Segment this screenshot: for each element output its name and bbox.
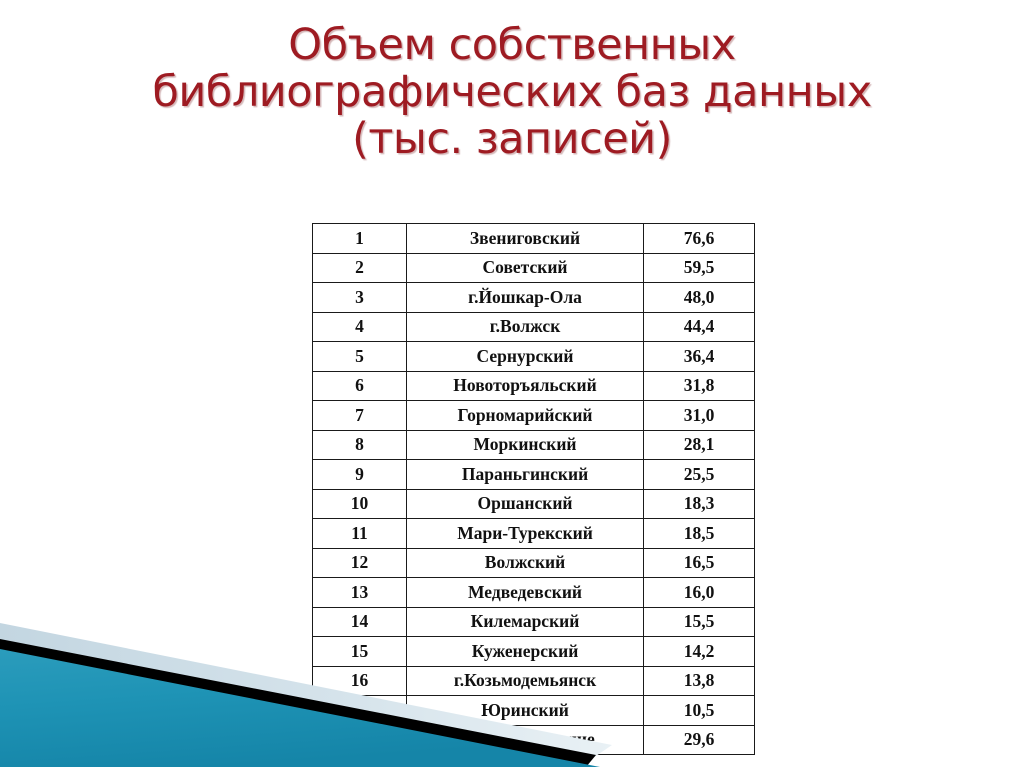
cell-value: 28,1: [644, 430, 755, 460]
cell-name: Куженерский: [407, 637, 644, 667]
cell-value: 18,5: [644, 519, 755, 549]
cell-name: Килемарский: [407, 607, 644, 637]
cell-value: 44,4: [644, 312, 755, 342]
table-row: 12Волжский16,5: [313, 548, 755, 578]
slide-canvas: Объем собственных библиографических баз …: [0, 0, 1024, 767]
cell-value: 36,4: [644, 342, 755, 372]
cell-index: 2: [313, 253, 407, 283]
cell-index: 3: [313, 283, 407, 313]
cell-value: 13,8: [644, 666, 755, 696]
cell-index: 14: [313, 607, 407, 637]
cell-index: 6: [313, 371, 407, 401]
cell-index: 9: [313, 460, 407, 490]
cell-value: 18,3: [644, 489, 755, 519]
data-table-container: 1Звениговский76,62Советский59,53г.Йошкар…: [312, 223, 727, 755]
cell-name: Звениговский: [407, 224, 644, 254]
cell-value: 59,5: [644, 253, 755, 283]
cell-index: 17: [313, 696, 407, 726]
cell-index: 8: [313, 430, 407, 460]
cell-value: 15,5: [644, 607, 755, 637]
cell-index: 11: [313, 519, 407, 549]
cell-value: 76,6: [644, 224, 755, 254]
table-body: 1Звениговский76,62Советский59,53г.Йошкар…: [313, 224, 755, 755]
cell-index: 7: [313, 401, 407, 431]
cell-value: 48,0: [644, 283, 755, 313]
cell-name: Горномарийский: [407, 401, 644, 431]
cell-name: Советский: [407, 253, 644, 283]
cell-index: [313, 725, 407, 755]
cell-name: Новоторъяльский: [407, 371, 644, 401]
table-row: 8Моркинский28,1: [313, 430, 755, 460]
cell-name: Сернурский: [407, 342, 644, 372]
table-row: 9Параньгинский25,5: [313, 460, 755, 490]
table-row: 6Новоторъяльский31,8: [313, 371, 755, 401]
table-row: 10Оршанский18,3: [313, 489, 755, 519]
cell-name: г.Йошкар-Ола: [407, 283, 644, 313]
cell-name: Среднее значение: [407, 725, 644, 755]
table-row: 17Юринский10,5: [313, 696, 755, 726]
cell-value: 14,2: [644, 637, 755, 667]
cell-value: 16,5: [644, 548, 755, 578]
cell-index: 4: [313, 312, 407, 342]
table-row: 5Сернурский36,4: [313, 342, 755, 372]
cell-name: г.Козьмодемьянск: [407, 666, 644, 696]
cell-value: 31,0: [644, 401, 755, 431]
cell-name: Моркинский: [407, 430, 644, 460]
cell-value: 29,6: [644, 725, 755, 755]
cell-index: 16: [313, 666, 407, 696]
cell-value: 16,0: [644, 578, 755, 608]
table-summary-row: Среднее значение29,6: [313, 725, 755, 755]
cell-index: 5: [313, 342, 407, 372]
cell-value: 25,5: [644, 460, 755, 490]
table-row: 7Горномарийский31,0: [313, 401, 755, 431]
cell-name: Мари-Турекский: [407, 519, 644, 549]
table-row: 16г.Козьмодемьянск13,8: [313, 666, 755, 696]
table-row: 15Куженерский14,2: [313, 637, 755, 667]
cell-index: 12: [313, 548, 407, 578]
cell-name: Юринский: [407, 696, 644, 726]
cell-index: 1: [313, 224, 407, 254]
cell-name: Волжский: [407, 548, 644, 578]
bibliographic-database-table: 1Звениговский76,62Советский59,53г.Йошкар…: [312, 223, 755, 755]
table-row: 11Мари-Турекский18,5: [313, 519, 755, 549]
table-row: 13Медведевский16,0: [313, 578, 755, 608]
cell-value: 31,8: [644, 371, 755, 401]
cell-index: 15: [313, 637, 407, 667]
cell-index: 10: [313, 489, 407, 519]
cell-name: Медведевский: [407, 578, 644, 608]
cell-value: 10,5: [644, 696, 755, 726]
table-row: 1Звениговский76,6: [313, 224, 755, 254]
table-row: 14Килемарский15,5: [313, 607, 755, 637]
table-row: 2Советский59,5: [313, 253, 755, 283]
cell-name: г.Волжск: [407, 312, 644, 342]
table-row: 3г.Йошкар-Ола48,0: [313, 283, 755, 313]
cell-name: Оршанский: [407, 489, 644, 519]
table-row: 4г.Волжск44,4: [313, 312, 755, 342]
cell-name: Параньгинский: [407, 460, 644, 490]
cell-index: 13: [313, 578, 407, 608]
page-title: Объем собственных библиографических баз …: [0, 22, 1024, 163]
